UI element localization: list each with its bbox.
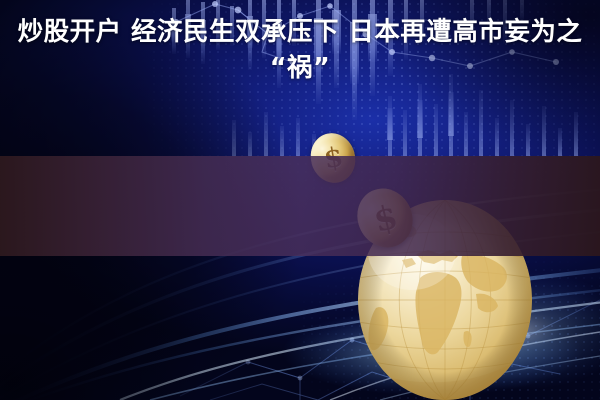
headline-overlay-band	[0, 156, 600, 256]
news-banner-image: $ $ 炒股开户 经济民生双承压下 日本再遭高市妄为之 “祸”	[0, 0, 600, 400]
